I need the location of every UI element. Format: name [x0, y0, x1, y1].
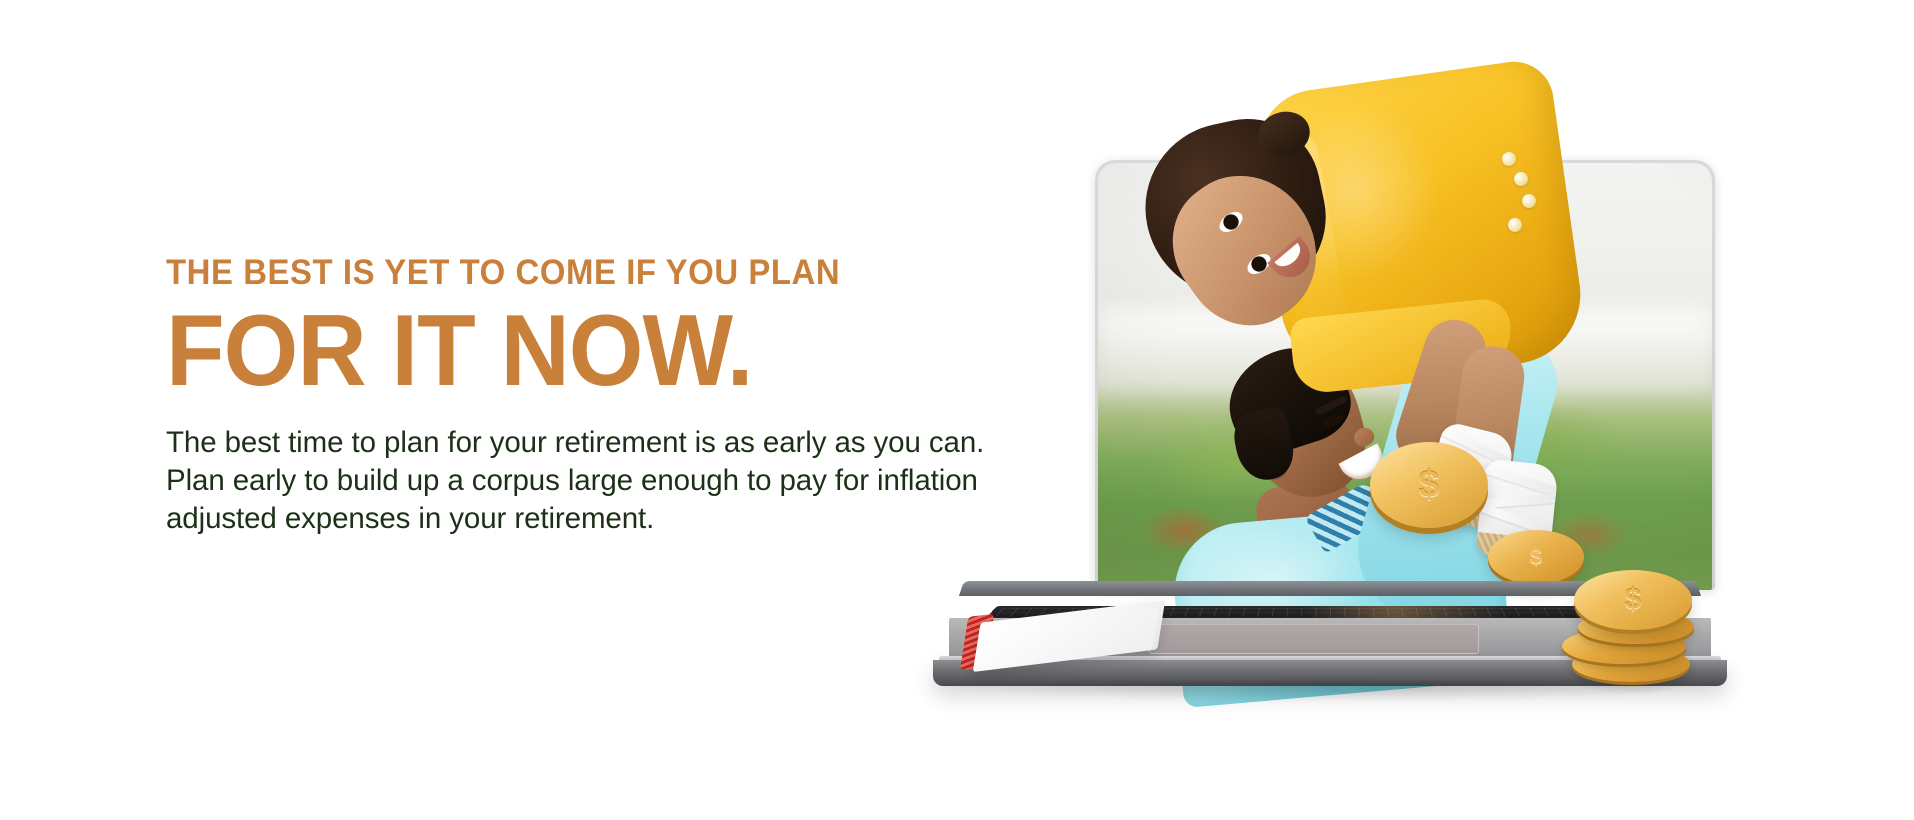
gold-coin-large: $: [1370, 442, 1488, 560]
child-dress-button: [1508, 218, 1522, 232]
child-dress-button: [1502, 152, 1516, 166]
coin-dollar-symbol: $: [1574, 570, 1692, 630]
page-title: FOR IT NOW.: [166, 301, 1012, 402]
coin-dollar-symbol: $: [1370, 442, 1488, 528]
child-dress-button: [1514, 172, 1528, 186]
coin-top-face: $: [1574, 570, 1692, 630]
child-cheek: [1252, 280, 1296, 314]
description-paragraph: The best time to plan for your retiremen…: [166, 424, 1046, 539]
copy-block: THE BEST IS YET TO COME IF YOU PLAN FOR …: [166, 255, 1056, 539]
laptop-trackpad: [1149, 624, 1479, 654]
retirement-planning-banner: THE BEST IS YET TO COME IF YOU PLAN FOR …: [0, 0, 1914, 820]
laptop-illustration: $ $: [940, 110, 1800, 690]
gold-coin-stack: $: [1550, 572, 1710, 690]
kicker-heading: THE BEST IS YET TO COME IF YOU PLAN: [166, 255, 1003, 292]
child-dress-button: [1522, 194, 1536, 208]
spiral-notebook: [964, 608, 1169, 670]
